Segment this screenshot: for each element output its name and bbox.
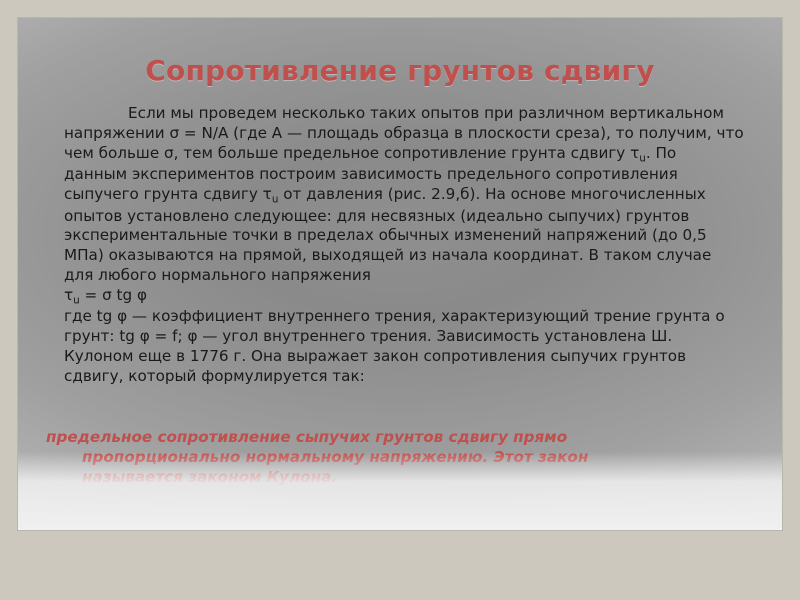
slide-canvas: Сопротивление грунтов сдвигу Если мы про…: [18, 18, 782, 530]
page-title: Сопротивление грунтов сдвигу: [18, 54, 782, 87]
tau-symbol-1: τ: [630, 144, 639, 162]
paragraph-3-run-1: где tg φ — коэффициент внутреннего трени…: [64, 307, 725, 384]
formula-expression: = σ tg φ: [80, 286, 147, 304]
conclusion-line-2: пропорционально нормальному напряжению. …: [46, 448, 746, 468]
tau-symbol-2: τ: [263, 185, 272, 203]
body-paragraph-1: Если мы проведем несколько таких опытов …: [64, 104, 744, 286]
slide-body: Если мы проведем несколько таких опытов …: [64, 104, 744, 386]
conclusion-line-1: предельное сопротивление сыпучих грунтов…: [46, 428, 746, 448]
body-paragraph-3: где tg φ — коэффициент внутреннего трени…: [64, 307, 744, 386]
conclusion-line-3: называется законом Кулона.: [46, 468, 746, 488]
tau-symbol-3: τ: [64, 286, 73, 304]
formula-line: τu = σ tg φ: [64, 286, 744, 308]
conclusion-text: предельное сопротивление сыпучих грунтов…: [46, 428, 746, 487]
